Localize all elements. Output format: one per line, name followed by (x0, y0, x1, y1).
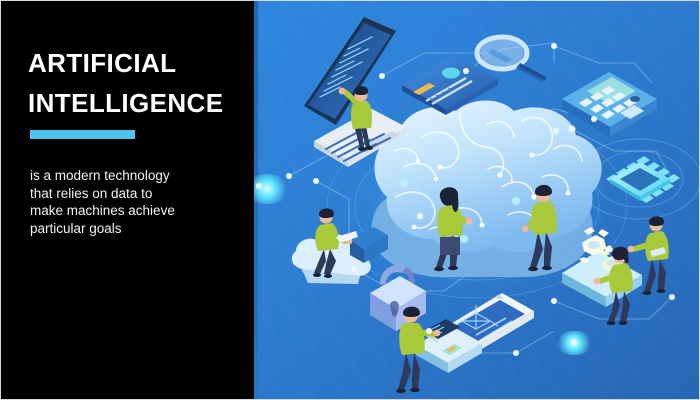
glow-node-brain (553, 128, 559, 134)
glow-node-left (256, 183, 262, 189)
subcopy-line-3: make machines achieve (30, 202, 240, 220)
illustration-panel (254, 1, 700, 400)
page-title: ARTIFICIAL INTELLIGENCE (28, 43, 243, 123)
glow-node-center (417, 213, 423, 219)
headline-line-1: ARTIFICIAL (28, 43, 243, 83)
ai-banner: ARTIFICIAL INTELLIGENCE is a modern tech… (0, 0, 700, 400)
subcopy-line-1: is a modern technology (30, 167, 240, 185)
cloud-icon (292, 227, 388, 284)
text-panel: ARTIFICIAL INTELLIGENCE is a modern tech… (1, 1, 254, 399)
subtitle-paragraph: is a modern technology that relies on da… (30, 167, 240, 237)
isometric-illustration (254, 1, 700, 400)
accent-divider (30, 130, 135, 139)
subcopy-line-2: that relies on data to (30, 185, 240, 203)
calculator-icon (562, 72, 657, 137)
headline-line-2: INTELLIGENCE (28, 83, 243, 123)
subcopy-line-4: particular goals (30, 220, 240, 238)
glow-node-bottom (571, 339, 577, 345)
cpu-chip-icon (606, 156, 680, 203)
